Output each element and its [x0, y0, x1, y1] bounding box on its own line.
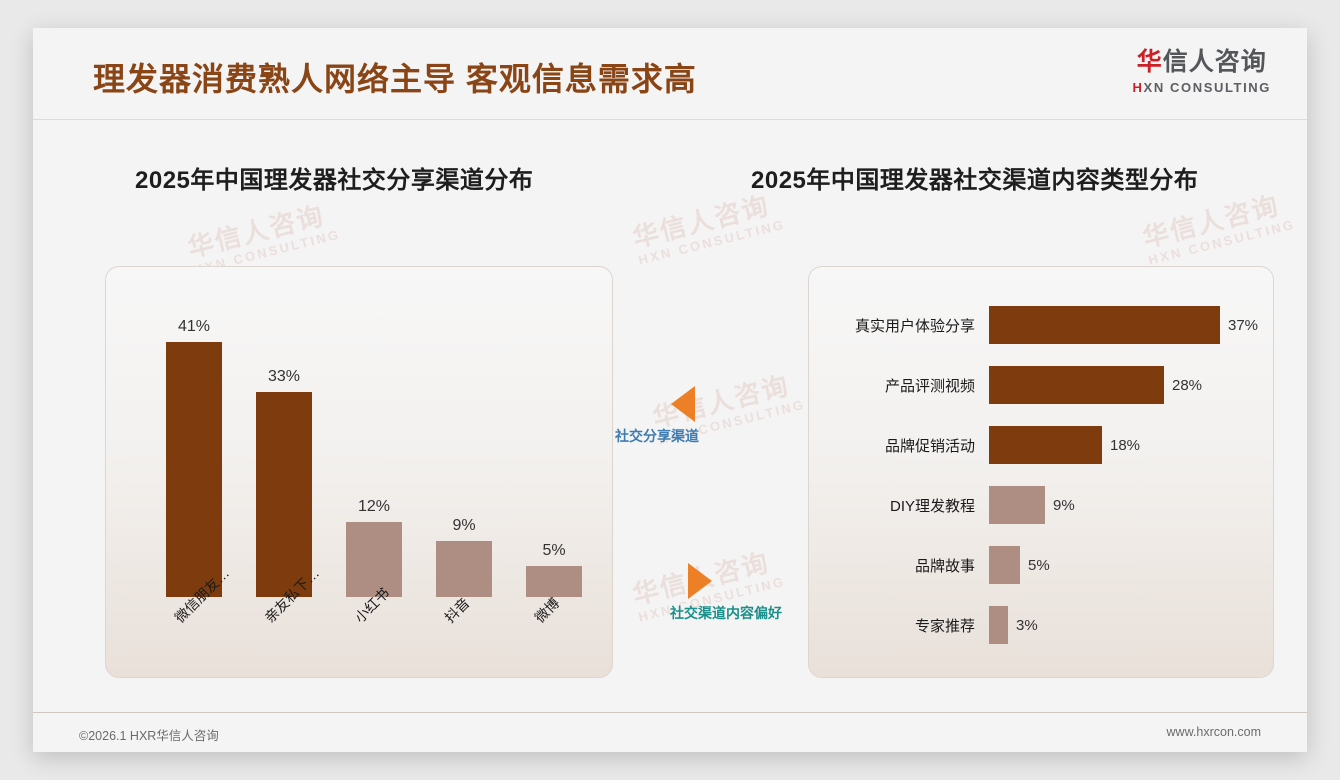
left-chart-panel: 41%微信朋友…33%亲友私下…12%小红书9%抖音5%微博 — [105, 266, 613, 678]
bar-value-label: 5% — [1028, 557, 1050, 574]
annotation-social-sharing-channel: 社交分享渠道 — [671, 386, 699, 446]
annotation-content-preference: 社交渠道内容偏好 — [688, 563, 782, 623]
triangle-right-icon — [688, 563, 712, 599]
slide-header: 理发器消费熟人网络主导 客观信息需求高 华信人咨询 HXN CONSULTING — [33, 28, 1307, 120]
bar-category-label: DIY理发教程 — [809, 495, 989, 516]
slide-footer: ©2026.1 HXR华信人咨询 www.hxrcon.com — [33, 712, 1307, 752]
bar — [346, 522, 402, 597]
bar — [436, 541, 492, 597]
watermark: 华信人咨询HXN CONSULTING — [630, 188, 787, 268]
bar-category-label: 产品评测视频 — [809, 375, 989, 396]
bar-row: 品牌促销活动18% — [809, 423, 1273, 467]
bar — [989, 306, 1220, 344]
bar-column: 12% — [346, 498, 402, 597]
footer-copyright: ©2026.1 HXR华信人咨询 — [79, 725, 219, 744]
bar — [166, 342, 222, 597]
bar-value-label: 33% — [268, 368, 300, 386]
bar-column: 41% — [166, 318, 222, 597]
logo-cn-highlight: 华 — [1137, 48, 1163, 76]
bar-row: 品牌故事5% — [809, 543, 1273, 587]
annotation-label: 社交渠道内容偏好 — [670, 603, 782, 623]
bar-row: 真实用户体验分享37% — [809, 303, 1273, 347]
bar-value-label: 37% — [1228, 317, 1258, 334]
bar-column: 5% — [526, 542, 582, 597]
bar-value-label: 12% — [358, 498, 390, 516]
logo-en-rest: XN CONSULTING — [1144, 80, 1271, 95]
company-logo: 华信人咨询 HXN CONSULTING — [1133, 50, 1271, 94]
bar — [989, 486, 1045, 524]
bar-value-label: 28% — [1172, 377, 1202, 394]
bar — [989, 606, 1008, 644]
bar-row: DIY理发教程9% — [809, 483, 1273, 527]
bar-value-label: 3% — [1016, 617, 1038, 634]
bar — [989, 426, 1102, 464]
watermark: 华信人咨询HXN CONSULTING — [1140, 188, 1297, 268]
annotation-label: 社交分享渠道 — [615, 426, 699, 446]
bar — [256, 392, 312, 597]
bar-value-label: 9% — [452, 517, 475, 535]
bar — [989, 366, 1164, 404]
bar-column: 33% — [256, 368, 312, 597]
bar-category-label: 品牌促销活动 — [809, 435, 989, 456]
right-chart-panel: 真实用户体验分享37%产品评测视频28%品牌促销活动18%DIY理发教程9%品牌… — [808, 266, 1274, 678]
bar-value-label: 9% — [1053, 497, 1075, 514]
footer-website: www.hxrcon.com — [1167, 725, 1261, 739]
horizontal-bar-chart: 真实用户体验分享37%产品评测视频28%品牌促销活动18%DIY理发教程9%品牌… — [809, 293, 1273, 655]
bar-category-label: 品牌故事 — [809, 555, 989, 576]
bar-value-label: 41% — [178, 318, 210, 336]
bar-row: 专家推荐3% — [809, 603, 1273, 647]
left-chart-title: 2025年中国理发器社交分享渠道分布 — [135, 160, 533, 195]
bar-value-label: 5% — [542, 542, 565, 560]
right-chart-title: 2025年中国理发器社交渠道内容类型分布 — [751, 160, 1198, 195]
bar-category-label: 真实用户体验分享 — [809, 315, 989, 336]
bar-column: 9% — [436, 517, 492, 597]
bar-value-label: 18% — [1110, 437, 1140, 454]
bar — [989, 546, 1020, 584]
bar-row: 产品评测视频28% — [809, 363, 1273, 407]
page-title: 理发器消费熟人网络主导 客观信息需求高 — [93, 54, 697, 100]
logo-en-highlight: H — [1133, 80, 1144, 95]
bar-category-label: 专家推荐 — [809, 615, 989, 636]
slide-canvas: 理发器消费熟人网络主导 客观信息需求高 华信人咨询 HXN CONSULTING… — [33, 28, 1307, 752]
bar-category-label: 抖音 — [440, 593, 474, 627]
bar-category-label: 微博 — [530, 593, 564, 627]
triangle-left-icon — [671, 386, 695, 422]
bar — [526, 566, 582, 597]
vertical-bar-chart: 41%微信朋友…33%亲友私下…12%小红书9%抖音5%微博 — [120, 279, 590, 597]
logo-english-text: HXN CONSULTING — [1133, 81, 1271, 94]
logo-chinese-text: 华信人咨询 — [1133, 50, 1271, 75]
logo-cn-rest: 信人咨询 — [1163, 48, 1267, 76]
